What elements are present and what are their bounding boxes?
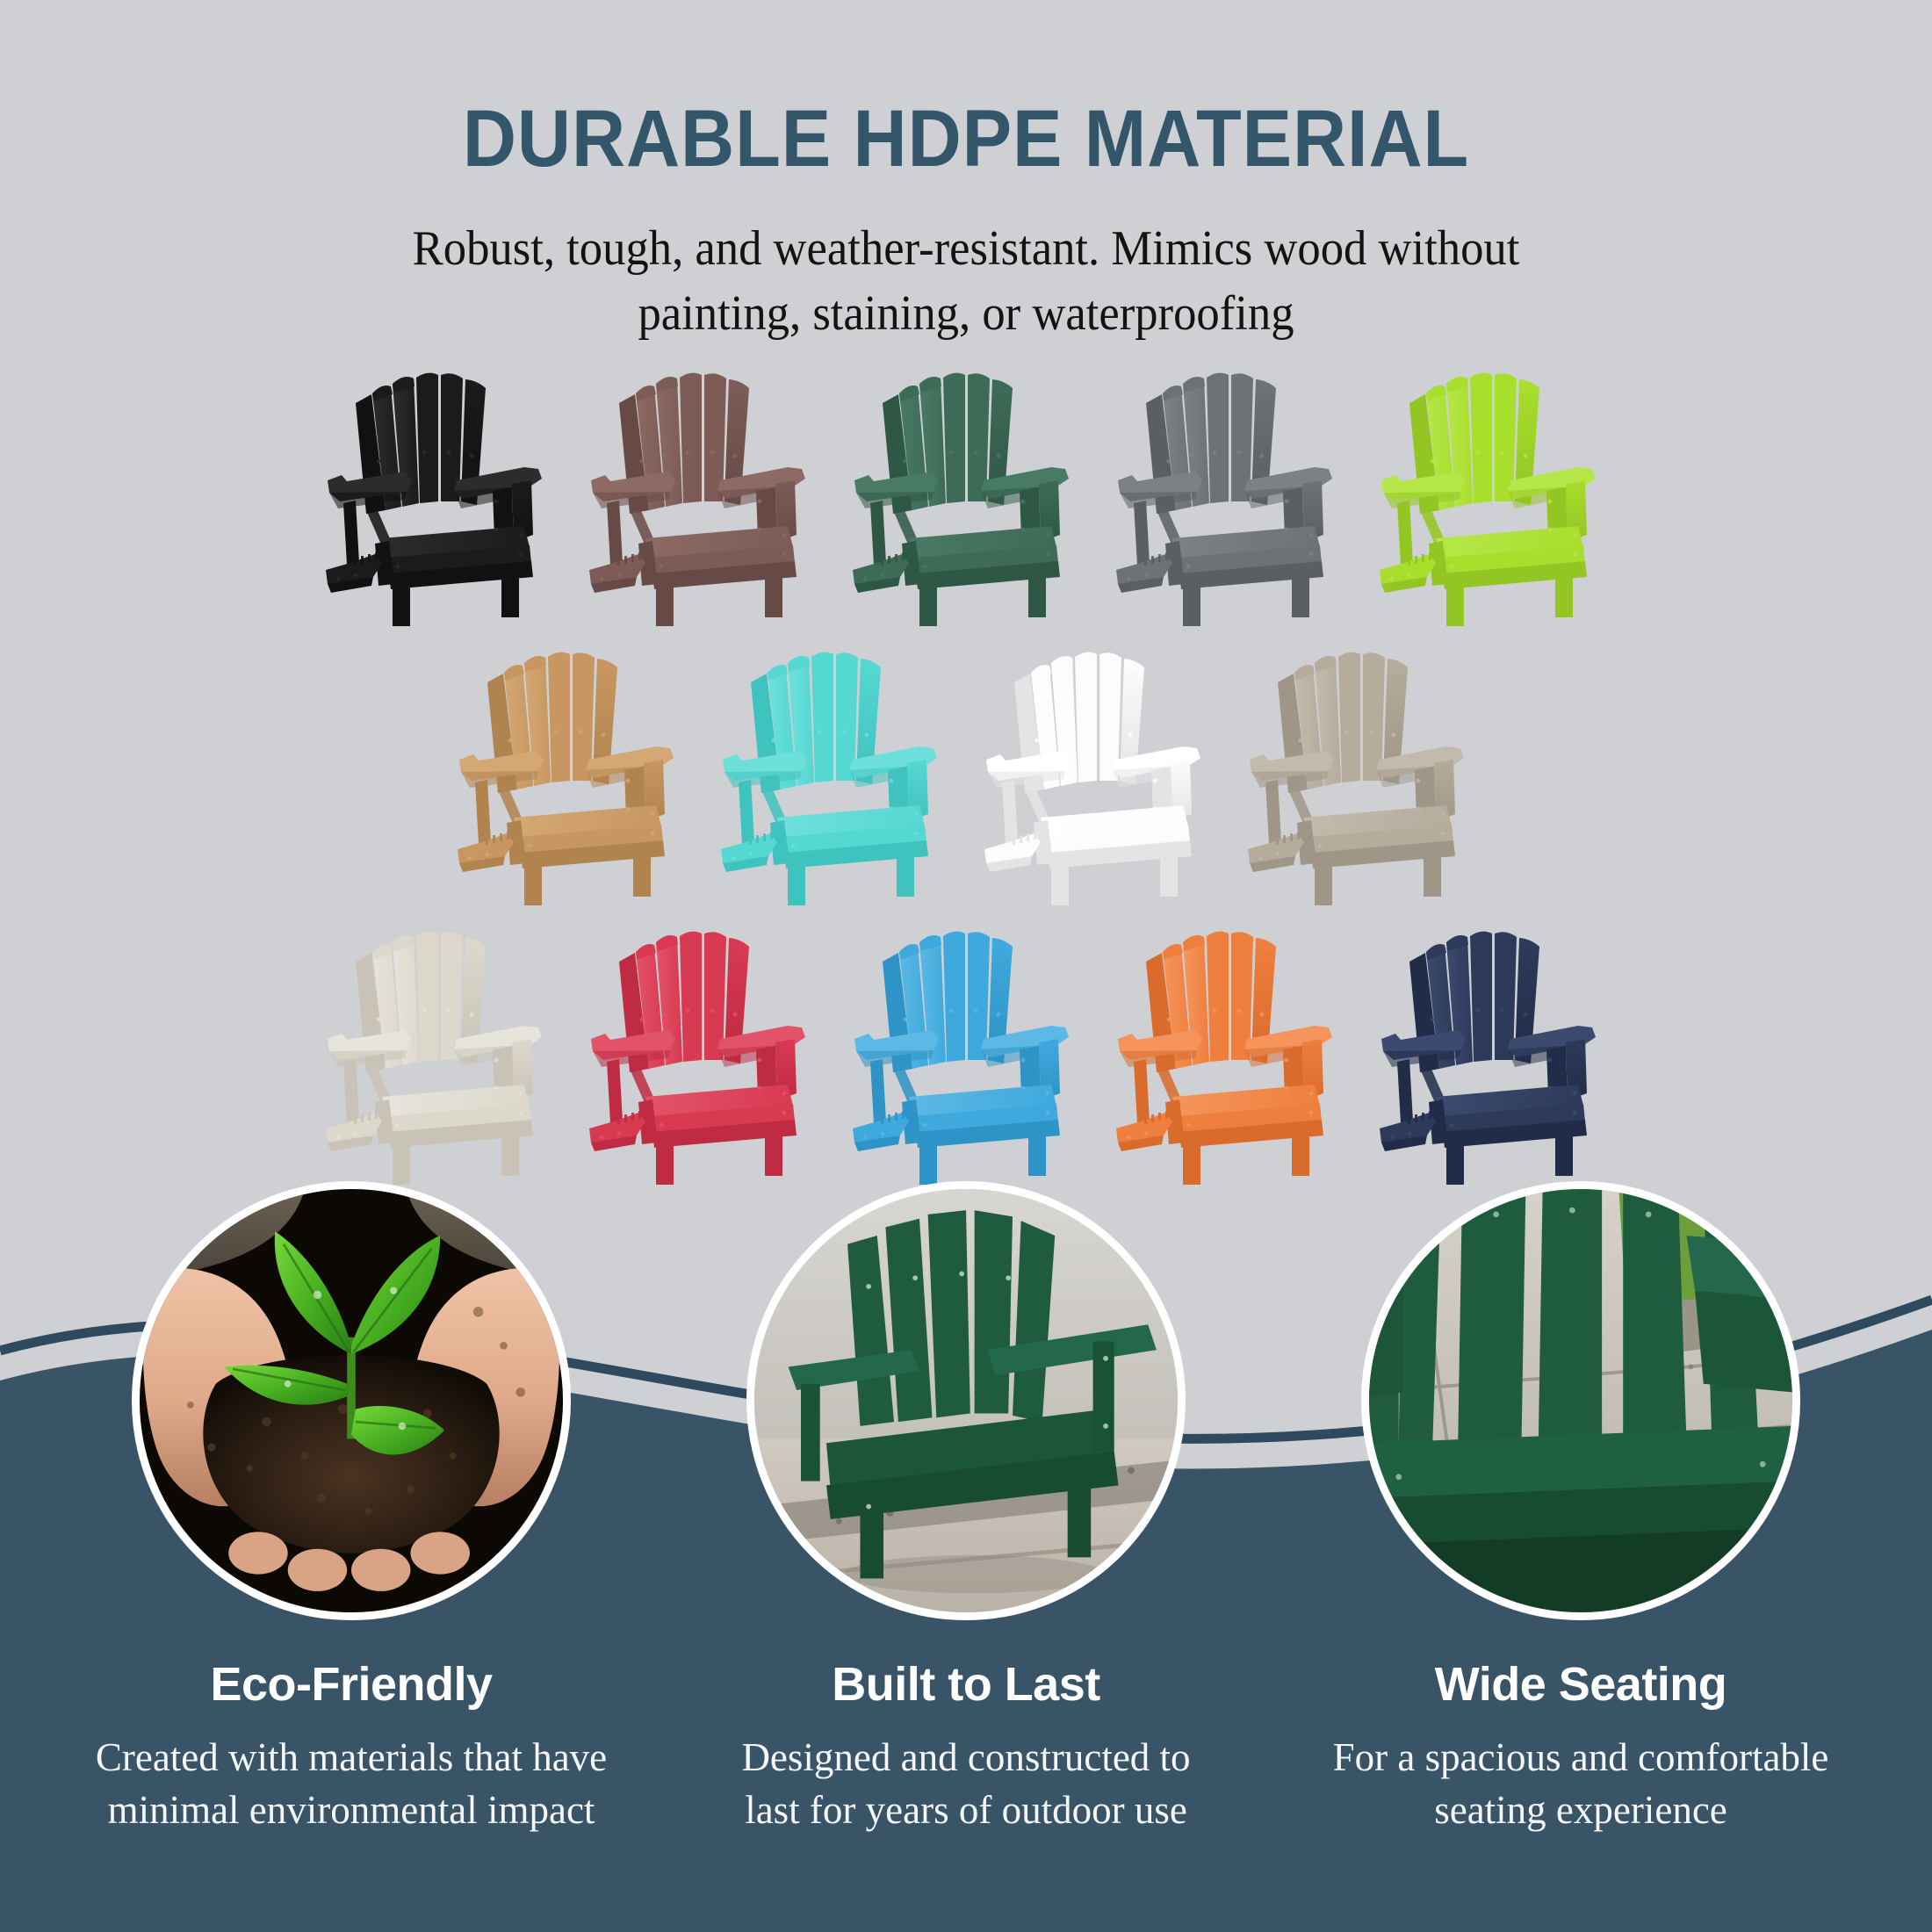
feature-desc-line-2: seating experience	[1291, 1784, 1871, 1836]
adirondack-chair-svg	[847, 363, 1085, 626]
chair-front-left-leg	[1183, 584, 1200, 626]
chair-front-left-leg	[1183, 1143, 1200, 1185]
adirondack-chair-svg	[452, 642, 689, 905]
chair-swatch-red[interactable]	[571, 912, 834, 1185]
adirondack-chair-svg	[584, 921, 821, 1185]
chair-front-right-leg	[1292, 1132, 1309, 1176]
chair-front-right-leg	[1028, 1132, 1046, 1176]
chair-folding-foot	[1116, 1111, 1172, 1151]
feature-title: Eco-Friendly	[210, 1657, 492, 1712]
chair-front-left-leg	[919, 1143, 937, 1185]
chair-front-right-leg	[765, 1132, 782, 1176]
chair-row-3	[0, 905, 1932, 1185]
adirondack-chair-svg	[847, 921, 1085, 1185]
chair-front-right-leg	[897, 853, 914, 897]
feature-desc-line-1: Created with materials that have	[61, 1731, 641, 1784]
chair-front-right-leg	[1555, 1132, 1573, 1176]
adirondack-chair-svg	[1374, 921, 1611, 1185]
chair-swatch-white[interactable]	[966, 633, 1229, 905]
adirondack-chair-svg	[321, 363, 558, 626]
adirondack-chair-svg	[321, 921, 558, 1185]
chair-folding-foot	[853, 1111, 909, 1151]
page-title: DURABLE HDPE MATERIAL	[77, 0, 1855, 179]
infographic-page: DURABLE HDPE MATERIAL Robust, tough, and…	[0, 0, 1932, 1932]
chair-front-right-leg	[1424, 853, 1441, 897]
chair-swatch-turquoise[interactable]	[703, 633, 966, 905]
feature-photo-circle	[746, 1181, 1186, 1620]
adirondack-chair-svg	[716, 642, 953, 905]
chair-front-left-leg	[656, 584, 674, 626]
chair-front-left-leg	[524, 863, 542, 905]
chair-front-left-leg	[393, 584, 410, 626]
header: DURABLE HDPE MATERIAL Robust, tough, and…	[0, 0, 1932, 347]
feature-description: For a spacious and comfortable seating e…	[1291, 1731, 1871, 1837]
chair-front-right-leg	[501, 573, 519, 617]
chair-folding-foot	[326, 1111, 382, 1151]
chair-front-left-leg	[919, 584, 937, 626]
feature-desc-line-2: minimal environmental impact	[61, 1784, 641, 1836]
chair-swatch-brown[interactable]	[571, 354, 834, 626]
chair-folding-foot	[458, 832, 514, 872]
chair-front-right-leg	[1028, 573, 1046, 617]
chair-folding-foot	[984, 832, 1041, 872]
feature-built-to-last: Built to Last Designed and constructed t…	[659, 1181, 1273, 1837]
chair-front-left-leg	[393, 1143, 410, 1185]
green-chair-on-patio-icon	[754, 1189, 1178, 1612]
feature-desc-line-1: Designed and constructed to	[676, 1731, 1256, 1784]
chair-front-right-leg	[1292, 573, 1309, 617]
chair-folding-foot	[853, 552, 909, 593]
chair-swatch-taupe[interactable]	[1229, 633, 1493, 905]
chair-front-right-leg	[765, 573, 782, 617]
chair-folding-foot	[1116, 552, 1172, 593]
adirondack-chair-svg	[584, 363, 821, 626]
chair-swatch-dark-green[interactable]	[834, 354, 1098, 626]
chair-front-right-leg	[501, 1132, 519, 1176]
feature-desc-line-2: last for years of outdoor use	[676, 1784, 1256, 1836]
feature-title: Built to Last	[832, 1657, 1099, 1712]
chair-front-right-leg	[1160, 853, 1178, 897]
chair-folding-foot	[589, 1111, 645, 1151]
feature-title: Wide Seating	[1435, 1657, 1727, 1712]
feature-wide-seating: Wide Seating For a spacious and comforta…	[1273, 1181, 1888, 1837]
feature-photo-circle	[1361, 1181, 1800, 1620]
hands-holding-seedling-icon	[140, 1189, 563, 1612]
subtitle-line-2: painting, staining, or waterproofing	[322, 281, 1610, 346]
wide-seat-closeup-icon	[1369, 1189, 1792, 1612]
chair-front-left-leg	[1051, 863, 1069, 905]
chair-row-2	[0, 626, 1932, 905]
adirondack-chair-svg	[1374, 363, 1611, 626]
chair-front-right-leg	[633, 853, 651, 897]
chair-folding-foot	[1380, 1111, 1436, 1151]
chair-color-grid	[0, 347, 1932, 1185]
feature-description: Created with materials that have minimal…	[61, 1731, 641, 1837]
feature-eco-friendly: Eco-Friendly Created with materials that…	[44, 1181, 659, 1837]
page-subtitle: Robust, tough, and weather-resistant. Mi…	[322, 179, 1610, 347]
chair-swatch-lime-green[interactable]	[1361, 354, 1625, 626]
adirondack-chair-svg	[1111, 921, 1348, 1185]
adirondack-chair-svg	[1243, 642, 1480, 905]
chair-swatch-teak[interactable]	[439, 633, 703, 905]
chair-swatch-black[interactable]	[307, 354, 571, 626]
chair-swatch-light-blue[interactable]	[834, 912, 1098, 1185]
chair-front-right-leg	[1555, 573, 1573, 617]
feature-desc-line-1: For a spacious and comfortable	[1291, 1731, 1871, 1784]
chair-folding-foot	[1248, 832, 1304, 872]
chair-row-1	[0, 347, 1932, 626]
feature-list: Eco-Friendly Created with materials that…	[0, 1181, 1932, 1837]
chair-front-left-leg	[788, 863, 805, 905]
chair-front-left-leg	[1446, 1143, 1464, 1185]
subtitle-line-1: Robust, tough, and weather-resistant. Mi…	[322, 216, 1610, 281]
chair-front-left-leg	[1315, 863, 1332, 905]
chair-folding-foot	[721, 832, 777, 872]
chair-swatch-navy-blue[interactable]	[1361, 912, 1625, 1185]
chair-swatch-ivory[interactable]	[307, 912, 571, 1185]
chair-folding-foot	[589, 552, 645, 593]
chair-swatch-gray[interactable]	[1098, 354, 1361, 626]
adirondack-chair-svg	[1111, 363, 1348, 626]
chair-folding-foot	[1380, 552, 1436, 593]
chair-folding-foot	[326, 552, 382, 593]
feature-description: Designed and constructed to last for yea…	[676, 1731, 1256, 1837]
chair-swatch-orange[interactable]	[1098, 912, 1361, 1185]
chair-front-left-leg	[1446, 584, 1464, 626]
chair-front-left-leg	[656, 1143, 674, 1185]
feature-photo-circle	[132, 1181, 571, 1620]
adirondack-chair-svg	[979, 642, 1216, 905]
